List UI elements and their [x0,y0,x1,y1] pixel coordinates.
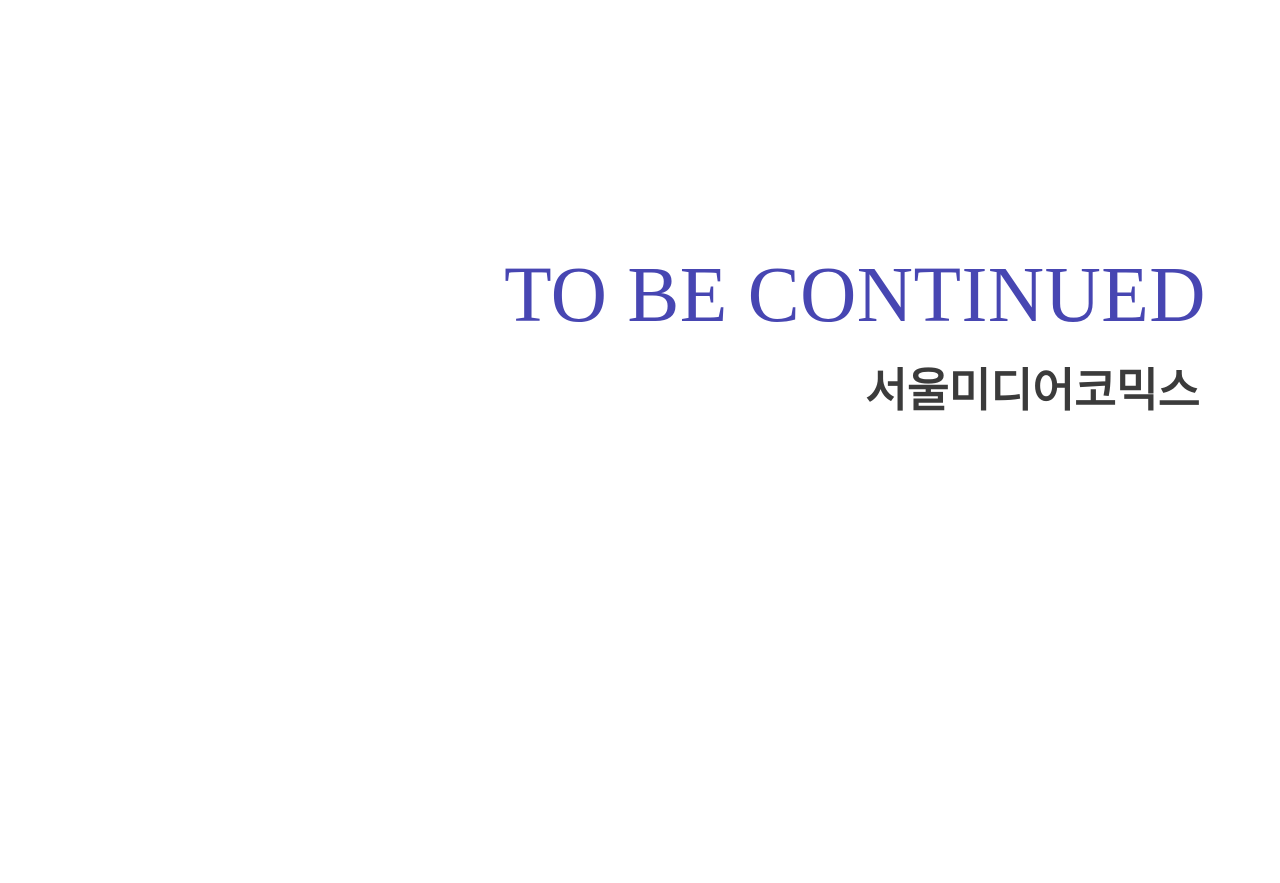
publisher-name: 서울미디어코믹스 [0,335,1206,413]
end-card-block: TO BE CONTINUED 서울미디어코믹스 [0,0,1206,413]
comic-end-page: TO BE CONTINUED 서울미디어코믹스 [0,0,1280,883]
to-be-continued-title: TO BE CONTINUED [18,0,1206,335]
